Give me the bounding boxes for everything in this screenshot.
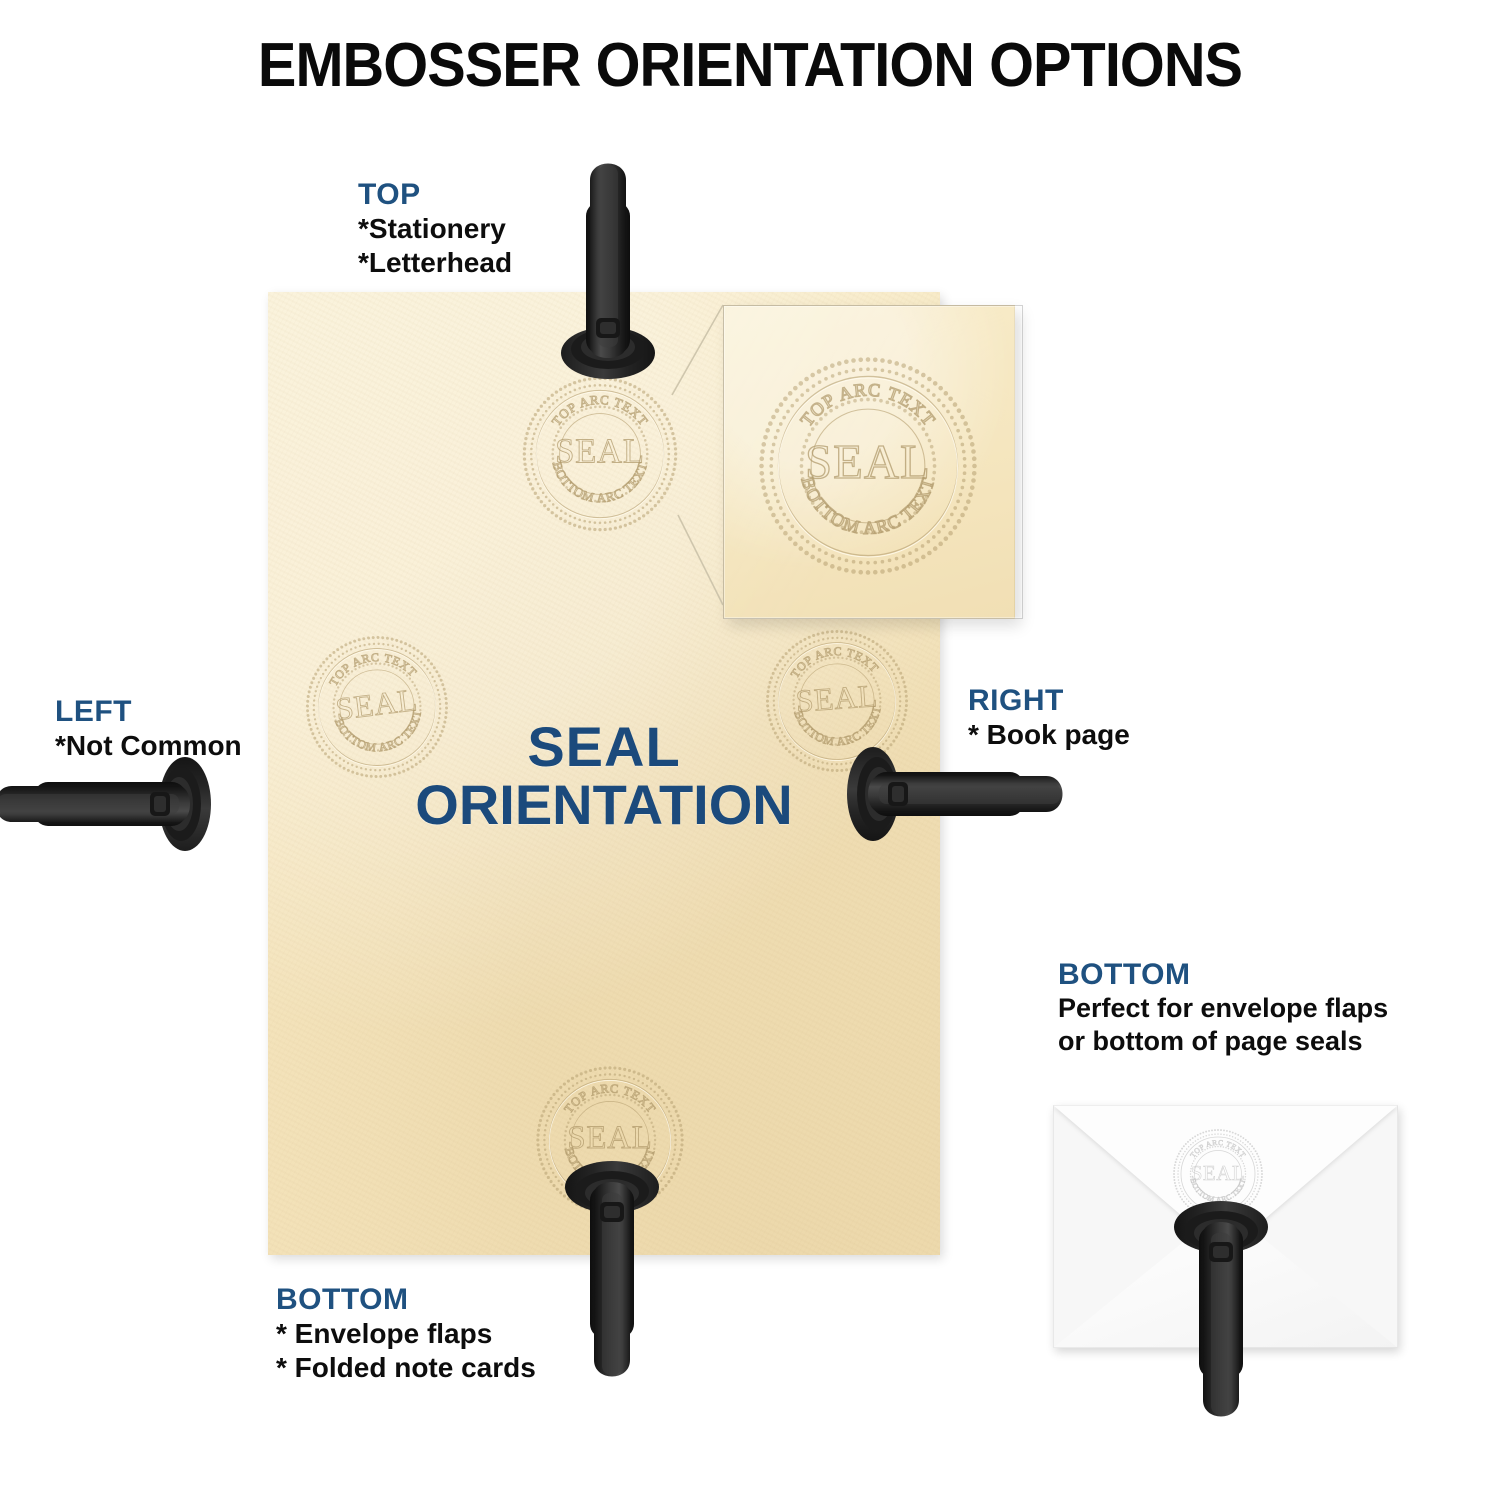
label-left: LEFT *Not Common: [55, 695, 242, 763]
label-bottom-right: BOTTOM Perfect for envelope flaps or bot…: [1058, 958, 1388, 1057]
label-left-line-0: *Not Common: [55, 729, 242, 763]
label-top-heading: TOP: [358, 178, 512, 212]
embosser-tool-envelope: [1161, 1198, 1281, 1430]
embosser-tool-bottom: [552, 1158, 672, 1390]
label-bottom-left: BOTTOM * Envelope flaps * Folded note ca…: [276, 1283, 536, 1385]
center-caption-line1: SEAL: [268, 718, 940, 776]
embosser-tool-top: [548, 150, 668, 382]
infographic-canvas: EMBOSSER ORIENTATION OPTIONS TOP ARC TEX…: [0, 0, 1500, 1500]
embosser-icon: [844, 734, 1076, 854]
center-caption-line2: ORIENTATION: [268, 776, 940, 834]
label-top: TOP *Stationery *Letterhead: [358, 178, 512, 280]
label-bottom-left-heading: BOTTOM: [276, 1283, 536, 1317]
label-right-heading: RIGHT: [968, 684, 1130, 718]
label-bottom-right-line-0: Perfect for envelope flaps: [1058, 992, 1388, 1025]
magnifier-glass-overlay: [723, 305, 1023, 619]
center-caption: SEAL ORIENTATION: [268, 718, 940, 834]
label-bottom-left-line-1: * Folded note cards: [276, 1351, 536, 1385]
embosser-tool-right: [844, 734, 1076, 854]
embosser-icon: [552, 1158, 672, 1390]
label-right-line-0: * Book page: [968, 718, 1130, 752]
label-left-heading: LEFT: [55, 695, 242, 729]
label-bottom-right-line-1: or bottom of page seals: [1058, 1025, 1388, 1058]
embosser-icon: [548, 150, 668, 382]
label-bottom-right-heading: BOTTOM: [1058, 958, 1388, 992]
page-title: EMBOSSER ORIENTATION OPTIONS: [53, 30, 1448, 101]
embosser-icon: [1161, 1198, 1281, 1430]
label-bottom-left-line-0: * Envelope flaps: [276, 1317, 536, 1351]
label-top-line-1: *Letterhead: [358, 246, 512, 280]
label-right: RIGHT * Book page: [968, 684, 1130, 752]
label-top-line-0: *Stationery: [358, 212, 512, 246]
